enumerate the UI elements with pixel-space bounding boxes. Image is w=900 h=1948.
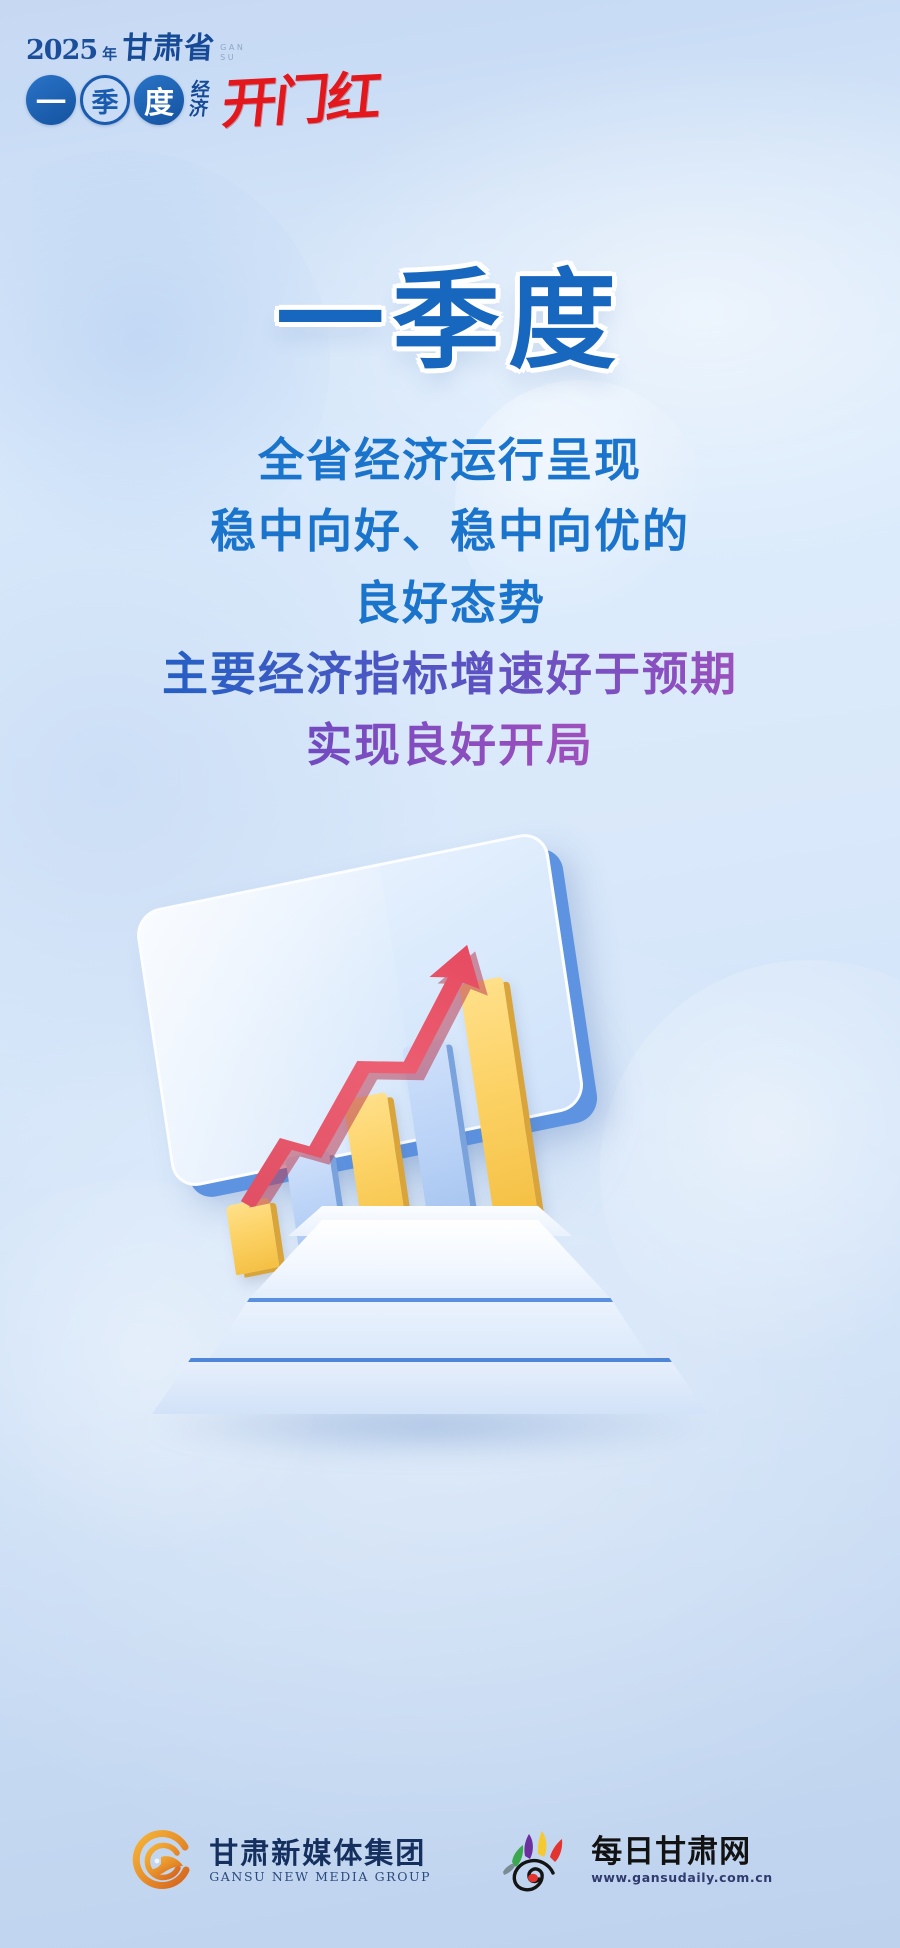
page-title: 一季度 xyxy=(0,265,900,378)
header-badge-du: 度 xyxy=(134,75,184,125)
header-badge-yi: 一 xyxy=(26,75,76,125)
header-bottom-row: 一 季 度 经 济 开门红 xyxy=(26,69,456,131)
header-red-calligraphy: 开门红 xyxy=(220,69,383,131)
footer-logos: 甘肃新媒体集团 GANSU NEW MEDIA GROUP xyxy=(0,1826,900,1896)
body-line-1: 全省经济运行呈现 xyxy=(0,425,900,496)
header-jingji: 经 济 xyxy=(188,81,211,119)
header-year: 2025 xyxy=(26,37,97,64)
header-jingji-line2: 济 xyxy=(188,100,209,119)
body-line-5: 实现良好开局 xyxy=(0,710,900,781)
gansudaily-logo-text: 每日甘肃网 www.gansudaily.com.cn xyxy=(591,1837,773,1885)
header-pinyin-line2: SU xyxy=(220,53,245,63)
pedestal-tier-base xyxy=(152,1358,708,1414)
poster-canvas: 2025 年 甘肃省 GAN SU 一 季 度 经 济 开门红 一季度 全省经济… xyxy=(0,0,900,1948)
body-line-4: 主要经济指标增速好于预期 xyxy=(0,639,900,710)
header-logo-lockup: 2025 年 甘肃省 GAN SU 一 季 度 经 济 开门红 xyxy=(26,24,456,134)
gansudaily-logo-cn: 每日甘肃网 xyxy=(591,1837,773,1868)
header-top-row: 2025 年 甘肃省 GAN SU xyxy=(26,24,456,64)
gansu-logo-text: 甘肃新媒体集团 GANSU NEW MEDIA GROUP xyxy=(209,1839,431,1884)
logo-gansu-new-media-group[interactable]: 甘肃新媒体集团 GANSU NEW MEDIA GROUP xyxy=(127,1826,431,1896)
gansudaily-logo-url: www.gansudaily.com.cn xyxy=(591,1872,773,1885)
gansu-logo-cn: 甘肃新媒体集团 xyxy=(209,1839,431,1868)
header-badge-ji: 季 xyxy=(80,75,130,125)
gansu-swirl-g-icon xyxy=(127,1826,197,1896)
header-province: 甘肃省 xyxy=(121,34,216,64)
logo-gansu-daily[interactable]: 每日甘肃网 www.gansudaily.com.cn xyxy=(491,1828,773,1894)
body-line-2: 稳中向好、稳中向优的 xyxy=(0,496,900,567)
header-pinyin-line1: GAN xyxy=(220,43,245,53)
gansu-logo-en: GANSU NEW MEDIA GROUP xyxy=(209,1871,431,1884)
gansudaily-at-petals-icon xyxy=(491,1828,583,1894)
header-pinyin: GAN SU xyxy=(220,43,245,64)
body-text-block: 全省经济运行呈现 稳中向好、稳中向优的 良好态势 主要经济指标增速好于预期 实现… xyxy=(0,425,900,781)
growth-chart-illustration xyxy=(90,840,810,1470)
header-year-suffix: 年 xyxy=(102,47,117,64)
pedestal xyxy=(110,1220,750,1450)
body-line-3: 良好态势 xyxy=(0,568,900,639)
pedestal-tier-middle xyxy=(210,1298,650,1358)
